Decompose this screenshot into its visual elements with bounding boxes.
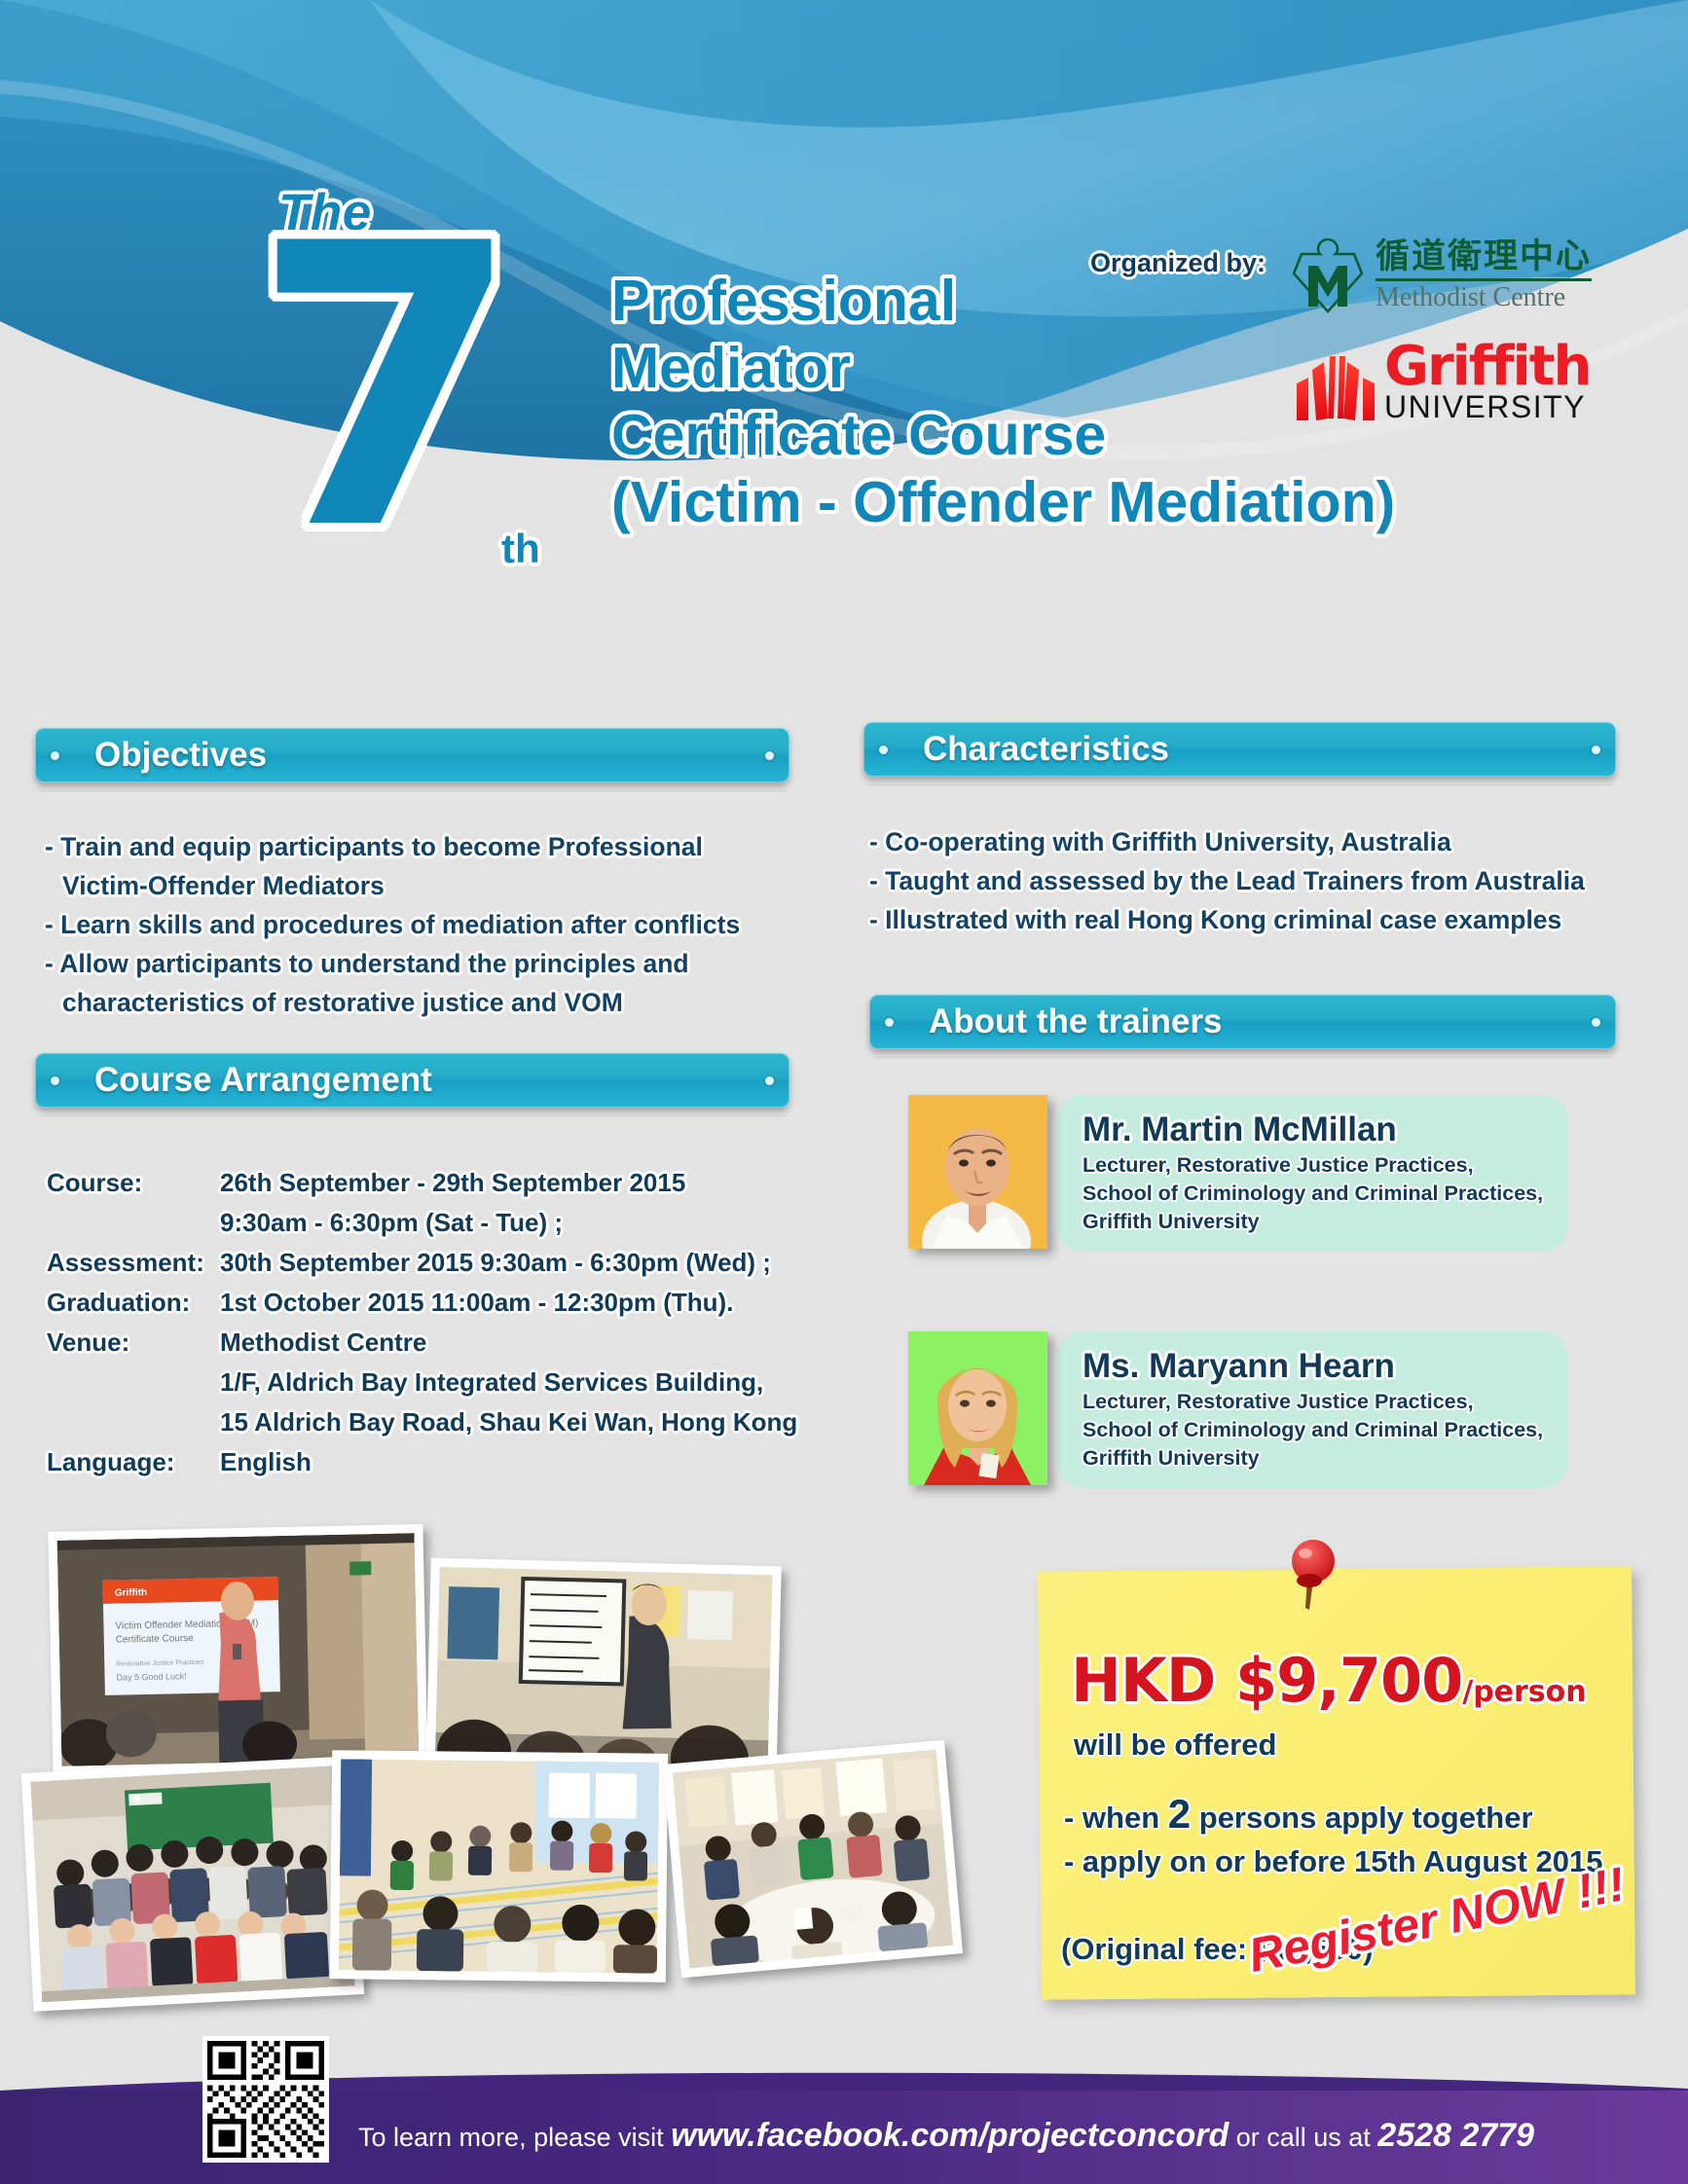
row-value: 26th September - 29th September 2015: [220, 1163, 685, 1203]
row-label: Assessment:: [47, 1243, 220, 1283]
characteristics-list: - Co-operating with Griffith University,…: [869, 822, 1585, 939]
griffith-flame-emblem-icon: [1295, 354, 1376, 422]
photo-inner: Griffith Victim Offender Mediation (VOM)…: [57, 1533, 420, 1766]
row-value: 1st October 2015 11:00am - 12:30pm (Thu)…: [220, 1283, 733, 1323]
course-arrangement-heading: Course Arrangement: [59, 1061, 765, 1100]
objectives-heading: Objectives: [59, 736, 765, 775]
course-arrangement-divider: [39, 1115, 787, 1116]
footer-contact-text: To learn more, please visit www.facebook…: [358, 2117, 1534, 2155]
trainer-role-line-2: School of Criminology and Criminal Pract…: [1083, 1180, 1543, 1208]
table-row: 9:30am - 6:30pm (Sat - Tue) ;: [47, 1203, 797, 1243]
methodist-name-cn: 循道衛理中心: [1376, 240, 1592, 274]
griffith-wordmark: Griffith: [1384, 341, 1590, 393]
photo-circle-discussion: [330, 1750, 668, 1983]
row-value: English: [220, 1442, 312, 1482]
condition-1-count: 2: [1168, 1791, 1191, 1837]
title-ordinal-suffix: th: [501, 526, 540, 572]
trainer-name: Mr. Martin McMillan: [1083, 1109, 1543, 1151]
price-per-person: /person: [1462, 1675, 1586, 1709]
griffith-university-logo: Griffith UNIVERSITY: [1295, 343, 1635, 422]
table-row: 15 Aldrich Bay Road, Shau Kei Wan, Hong …: [47, 1402, 797, 1442]
footer-mid: or call us at: [1229, 2123, 1377, 2152]
trainer-role-line-3: Griffith University: [1083, 1444, 1543, 1473]
offer-condition-1: - when 2 persons apply together: [1064, 1791, 1533, 1838]
row-label: [47, 1203, 220, 1243]
table-row: Venue: Methodist Centre: [47, 1323, 797, 1363]
organized-by-label: Organized by:: [1090, 248, 1266, 278]
title-edition-number: 7: [251, 195, 522, 584]
objectives-item-1: - Train and equip participants to become…: [45, 827, 740, 866]
characteristics-item-1: - Co-operating with Griffith University,…: [869, 822, 1585, 861]
table-row: 1/F, Aldrich Bay Integrated Services Bui…: [47, 1363, 797, 1402]
trainer-info-2: Ms. Maryann Hearn Lecturer, Restorative …: [1057, 1331, 1568, 1488]
objectives-item-3: - Allow participants to understand the p…: [45, 944, 740, 983]
svg-text:Day 5 Good Luck!: Day 5 Good Luck!: [116, 1671, 186, 1683]
svg-text:Griffith: Griffith: [115, 1587, 148, 1599]
title-line-4: (Victim - Offender Mediation): [611, 469, 1585, 536]
section-header-objectives: Objectives: [35, 728, 789, 783]
footer-url[interactable]: www.facebook.com/projectconcord: [671, 2117, 1229, 2154]
methodist-m-emblem-icon: [1290, 237, 1366, 314]
characteristics-divider: [867, 784, 1613, 785]
offer-price: HKD $9,700/person: [1071, 1645, 1587, 1716]
row-value: Methodist Centre: [220, 1323, 426, 1363]
trainer-role-line-2: School of Criminology and Criminal Pract…: [1083, 1416, 1543, 1444]
objectives-list: - Train and equip participants to become…: [45, 827, 740, 1022]
trainer-role-line-1: Lecturer, Restorative Justice Practices,: [1083, 1388, 1543, 1416]
row-label: [47, 1402, 220, 1442]
row-label: Language:: [47, 1442, 220, 1482]
section-header-course-arrangement: Course Arrangement: [35, 1053, 789, 1108]
row-value: 9:30am - 6:30pm (Sat - Tue) ;: [220, 1203, 563, 1243]
trainer-card-2: Ms. Maryann Hearn Lecturer, Restorative …: [908, 1331, 1568, 1488]
bar-screw-right-icon: [765, 1076, 774, 1085]
methodist-name-en: Methodist Centre: [1376, 284, 1592, 311]
photo-inner: [673, 1750, 954, 1969]
bar-screw-left-icon: [51, 751, 59, 760]
table-row: Language: English: [47, 1442, 797, 1482]
row-label: [47, 1363, 220, 1402]
qr-code-icon: [207, 2041, 324, 2158]
condition-1-post: persons apply together: [1191, 1801, 1532, 1835]
objectives-divider: [39, 790, 787, 791]
trainers-divider: [873, 1057, 1613, 1058]
footer-phone[interactable]: 2528 2779: [1377, 2117, 1534, 2154]
photo-illustration-icon: Griffith Victim Offender Mediation (VOM)…: [57, 1533, 420, 1766]
bar-screw-left-icon: [879, 746, 888, 754]
pushpin-icon: [1280, 1536, 1342, 1612]
condition-1-pre: - when: [1064, 1801, 1168, 1835]
photo-classroom-presentation: Griffith Victim Offender Mediation (VOM)…: [48, 1524, 427, 1775]
characteristics-item-2: - Taught and assessed by the Lead Traine…: [869, 861, 1585, 900]
trainer-role-line-1: Lecturer, Restorative Justice Practices,: [1083, 1151, 1543, 1180]
qr-code[interactable]: [202, 2036, 329, 2163]
trainer-info-1: Mr. Martin McMillan Lecturer, Restorativ…: [1057, 1095, 1568, 1252]
row-label: Course:: [47, 1163, 220, 1203]
objectives-item-2: - Learn skills and procedures of mediati…: [45, 905, 740, 944]
row-value: 1/F, Aldrich Bay Integrated Services Bui…: [220, 1363, 763, 1402]
objectives-item-3-cont: characteristics of restorative justice a…: [45, 983, 740, 1022]
characteristics-heading: Characteristics: [888, 730, 1592, 769]
course-arrangement-table: Course: 26th September - 29th September …: [47, 1163, 797, 1482]
price-amount: HKD $9,700: [1071, 1645, 1462, 1716]
photo-roundtable-workshop: [663, 1740, 963, 1978]
methodist-logo-rule: [1376, 278, 1592, 281]
trainers-heading: About the trainers: [894, 1002, 1592, 1041]
row-value: 30th September 2015 9:30am - 6:30pm (Wed…: [220, 1243, 771, 1283]
table-row: Graduation: 1st October 2015 11:00am - 1…: [47, 1283, 797, 1323]
characteristics-item-3: - Illustrated with real Hong Kong crimin…: [869, 900, 1585, 939]
offer-will-be-offered: will be offered: [1074, 1728, 1276, 1763]
methodist-logo-text: 循道衛理中心 Methodist Centre: [1376, 240, 1592, 311]
bar-screw-left-icon: [51, 1076, 59, 1085]
photo-inner: [30, 1765, 354, 2003]
offer-condition-2: - apply on or before 15th August 2015: [1064, 1844, 1603, 1879]
photo-inner: [434, 1567, 772, 1781]
griffith-university-word: UNIVERSITY: [1384, 392, 1590, 422]
griffith-logo-text: Griffith UNIVERSITY: [1384, 341, 1590, 422]
objectives-item-1-cont: Victim-Offender Mediators: [45, 866, 740, 905]
trainer-role-line-3: Griffith University: [1083, 1208, 1543, 1236]
section-header-characteristics: Characteristics: [863, 722, 1616, 777]
trainer-photo-maryann-hearn: [908, 1331, 1047, 1485]
footer-lead: To learn more, please visit: [358, 2123, 671, 2152]
section-header-about-trainers: About the trainers: [869, 995, 1616, 1049]
photo-illustration-icon: [339, 1759, 659, 1973]
portrait-illustration-icon: [908, 1331, 1047, 1485]
bar-screw-right-icon: [1592, 746, 1600, 754]
photo-group-graduation: [21, 1756, 364, 2011]
table-row: Course: 26th September - 29th September …: [47, 1163, 797, 1203]
bar-screw-left-icon: [885, 1018, 894, 1027]
photo-illustration-icon: [30, 1765, 354, 2003]
poster-root: The 7 th Professional Mediator Certifica…: [0, 0, 1688, 2184]
photo-illustration-icon: [434, 1567, 772, 1781]
photo-illustration-icon: [673, 1750, 954, 1969]
portrait-illustration-icon: [908, 1095, 1047, 1249]
bar-screw-right-icon: [765, 751, 774, 760]
row-label: Graduation:: [47, 1283, 220, 1323]
table-row: Assessment: 30th September 2015 9:30am -…: [47, 1243, 797, 1283]
trainer-name: Ms. Maryann Hearn: [1083, 1345, 1543, 1388]
svg-text:Certificate Course: Certificate Course: [116, 1633, 195, 1646]
methodist-centre-logo: 循道衛理中心 Methodist Centre: [1290, 232, 1640, 319]
photo-inner: [339, 1759, 659, 1973]
row-value: 15 Aldrich Bay Road, Shau Kei Wan, Hong …: [220, 1402, 797, 1442]
row-label: Venue:: [47, 1323, 220, 1363]
trainer-card-1: Mr. Martin McMillan Lecturer, Restorativ…: [908, 1095, 1568, 1252]
bar-screw-right-icon: [1592, 1018, 1600, 1027]
trainer-photo-martin-mcmillan: [908, 1095, 1047, 1249]
